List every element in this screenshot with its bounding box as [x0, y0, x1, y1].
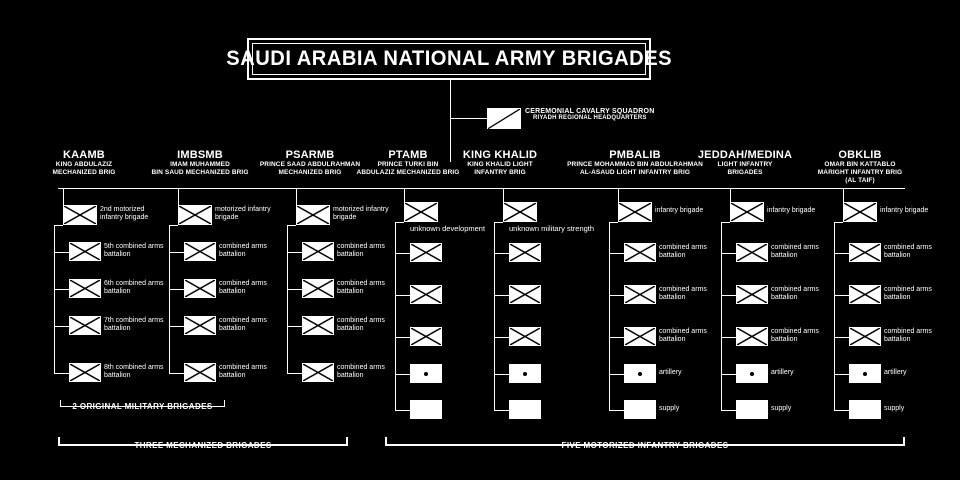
artillery-unit-icon-pmbalib-4 [624, 364, 656, 383]
unit-label-obklib-1: combined arms battalion [884, 244, 948, 260]
supply-unit-icon-king-khalid-5 [509, 400, 541, 419]
infantry-unit-icon-imbsmb-3 [184, 316, 216, 335]
infantry-unit-icon-kaamb-0 [63, 205, 97, 225]
branch-line-jeddah-medina-5 [721, 410, 736, 411]
bracket-label-motorized: FIVE MOTORIZED INFANTRY BRIGADES [385, 441, 905, 450]
infantry-unit-icon-imbsmb-1 [184, 242, 216, 261]
infantry-unit-icon-ptamb-3 [410, 327, 442, 346]
infantry-unit-icon-jeddah-medina-2 [736, 285, 768, 304]
unit-label-pmbalib-2: combined arms battalion [659, 286, 723, 302]
branch-line-kaamb-4 [54, 373, 69, 374]
column-spine-top-psarmb [287, 225, 296, 226]
column-drop-line-imbsmb [178, 188, 179, 205]
unit-label-jeddah-medina-5: supply [771, 405, 791, 413]
unit-label-kaamb-3: 7th combined arms battalion [104, 317, 168, 333]
branch-line-obklib-2 [834, 295, 849, 296]
column-subtitle-obklib: OMAR BIN KATTABLOMARIGHT INFANTRY BRIG(A… [780, 161, 940, 185]
branch-line-obklib-1 [834, 253, 849, 254]
unit-label-imbsmb-0: motorized infantry brigade [215, 206, 279, 222]
artillery-dot [750, 372, 754, 376]
infantry-unit-icon-obklib-3 [849, 327, 881, 346]
artillery-unit-icon-king-khalid-4 [509, 364, 541, 383]
ceremonial-branch-line [450, 118, 488, 119]
infantry-unit-icon-ptamb-0 [404, 202, 438, 222]
unit-label-jeddah-medina-1: combined arms battalion [771, 244, 835, 260]
infantry-unit-icon-king-khalid-2 [509, 285, 541, 304]
unit-label-obklib-4: artillery [884, 369, 907, 377]
unit-label-kaamb-1: 5th combined arms battalion [104, 243, 168, 259]
artillery-dot [523, 372, 527, 376]
infantry-unit-icon-psarmb-3 [302, 316, 334, 335]
column-header-obklib: OBKLIBOMAR BIN KATTABLOMARIGHT INFANTRY … [780, 149, 940, 185]
branch-line-obklib-3 [834, 337, 849, 338]
branch-line-jeddah-medina-4 [721, 374, 736, 375]
supply-unit-icon-obklib-5 [849, 400, 881, 419]
column-drop-line-kaamb [63, 188, 64, 205]
column-spine-top-kaamb [54, 225, 63, 226]
infantry-unit-icon-kaamb-4 [69, 363, 101, 382]
branch-line-jeddah-medina-3 [721, 337, 736, 338]
column-drop-line-psarmb [296, 188, 297, 205]
column-spine-imbsmb [169, 225, 170, 374]
column-drop-line-pmbalib [618, 188, 619, 202]
branch-line-king-khalid-5 [494, 410, 509, 411]
column-spine-top-obklib [834, 222, 843, 223]
artillery-unit-icon-jeddah-medina-4 [736, 364, 768, 383]
infantry-unit-icon-imbsmb-0 [178, 205, 212, 225]
branch-line-imbsmb-4 [169, 373, 184, 374]
infantry-unit-icon-imbsmb-2 [184, 279, 216, 298]
chart-title-box: SAUDI ARABIA NATIONAL ARMY BRIGADES [247, 38, 651, 80]
bracket-label-mechanized: THREE MECHANIZED BRIGADES [58, 441, 348, 450]
branch-line-king-khalid-4 [494, 374, 509, 375]
column-spine-pmbalib [609, 222, 610, 411]
branch-line-imbsmb-2 [169, 289, 184, 290]
infantry-unit-icon-obklib-0 [843, 202, 877, 222]
column-spine-king-khalid [494, 222, 495, 411]
unit-label-pmbalib-3: combined arms battalion [659, 328, 723, 344]
infantry-unit-icon-pmbalib-0 [618, 202, 652, 222]
column-spine-top-ptamb [395, 222, 404, 223]
supply-unit-icon-jeddah-medina-5 [736, 400, 768, 419]
infantry-unit-icon-kaamb-2 [69, 279, 101, 298]
branch-line-jeddah-medina-1 [721, 253, 736, 254]
unit-label-jeddah-medina-0: infantry brigade [767, 207, 815, 215]
infantry-unit-icon-psarmb-1 [302, 242, 334, 261]
unit-label-imbsmb-1: combined arms battalion [219, 243, 283, 259]
column-drop-line-obklib [843, 188, 844, 202]
infantry-unit-icon-psarmb-4 [302, 363, 334, 382]
artillery-unit-icon-obklib-4 [849, 364, 881, 383]
branch-line-kaamb-3 [54, 326, 69, 327]
unit-label-psarmb-3: combined arms battalion [337, 317, 401, 333]
unit-label-kaamb-0: 2nd motorized infantry brigade [100, 206, 164, 222]
branch-line-pmbalib-3 [609, 337, 624, 338]
branch-line-pmbalib-5 [609, 410, 624, 411]
infantry-unit-icon-king-khalid-0 [503, 202, 537, 222]
branch-line-imbsmb-1 [169, 252, 184, 253]
bracket-label-original: 2 ORIGINAL MILITARY BRIGADES [60, 402, 225, 411]
unit-label-psarmb-4: combined arms battalion [337, 364, 401, 380]
org-chart-canvas: SAUDI ARABIA NATIONAL ARMY BRIGADES CERE… [0, 0, 960, 480]
unit-label-kaamb-4: 8th combined arms battalion [104, 364, 168, 380]
unit-label-psarmb-1: combined arms battalion [337, 243, 401, 259]
column-drop-line-ptamb [404, 188, 405, 202]
unit-label-pmbalib-4: artillery [659, 369, 682, 377]
artillery-unit-icon-ptamb-4 [410, 364, 442, 383]
column-spine-top-imbsmb [169, 225, 178, 226]
infantry-unit-icon-jeddah-medina-1 [736, 243, 768, 262]
infantry-unit-icon-pmbalib-3 [624, 327, 656, 346]
infantry-unit-icon-pmbalib-2 [624, 285, 656, 304]
unit-label-jeddah-medina-2: combined arms battalion [771, 286, 835, 302]
branch-line-psarmb-2 [287, 289, 302, 290]
unit-label-imbsmb-4: combined arms battalion [219, 364, 283, 380]
infantry-unit-icon-psarmb-2 [302, 279, 334, 298]
unit-label-obklib-0: infantry brigade [880, 207, 928, 215]
branch-line-psarmb-1 [287, 252, 302, 253]
branch-line-king-khalid-3 [494, 337, 509, 338]
column-note-king-khalid: unknown military strength [509, 225, 594, 233]
column-spine-top-jeddah-medina [721, 222, 730, 223]
header-rail-line [58, 188, 905, 189]
column-spine-psarmb [287, 225, 288, 374]
page-title: SAUDI ARABIA NATIONAL ARMY BRIGADES [226, 47, 672, 71]
artillery-dot [638, 372, 642, 376]
supply-unit-icon-ptamb-5 [410, 400, 442, 419]
supply-unit-icon-pmbalib-5 [624, 400, 656, 419]
branch-line-obklib-4 [834, 374, 849, 375]
infantry-unit-icon-kaamb-1 [69, 242, 101, 261]
branch-line-pmbalib-1 [609, 253, 624, 254]
branch-line-imbsmb-3 [169, 326, 184, 327]
branch-line-king-khalid-2 [494, 295, 509, 296]
branch-line-ptamb-5 [395, 410, 410, 411]
unit-label-obklib-3: combined arms battalion [884, 328, 948, 344]
unit-label-obklib-5: supply [884, 405, 904, 413]
branch-line-pmbalib-2 [609, 295, 624, 296]
unit-label-pmbalib-5: supply [659, 405, 679, 413]
column-spine-top-king-khalid [494, 222, 503, 223]
unit-label-imbsmb-2: combined arms battalion [219, 280, 283, 296]
branch-line-kaamb-2 [54, 289, 69, 290]
branch-line-ptamb-3 [395, 337, 410, 338]
infantry-unit-icon-kaamb-3 [69, 316, 101, 335]
cavalry-squadron-icon [487, 108, 521, 129]
column-drop-line-jeddah-medina [730, 188, 731, 202]
infantry-unit-icon-ptamb-1 [410, 243, 442, 262]
artillery-dot [424, 372, 428, 376]
ceremonial-label: CEREMONIAL CAVALRY SQUADRON RIYADH REGIO… [525, 108, 705, 121]
infantry-unit-icon-king-khalid-1 [509, 243, 541, 262]
unit-label-jeddah-medina-3: combined arms battalion [771, 328, 835, 344]
column-spine-kaamb [54, 225, 55, 374]
artillery-dot [863, 372, 867, 376]
branch-line-psarmb-4 [287, 373, 302, 374]
infantry-unit-icon-pmbalib-1 [624, 243, 656, 262]
branch-line-obklib-5 [834, 410, 849, 411]
unit-label-obklib-2: combined arms battalion [884, 286, 948, 302]
infantry-unit-icon-ptamb-2 [410, 285, 442, 304]
branch-line-king-khalid-1 [494, 253, 509, 254]
unit-label-psarmb-0: motorized infantry brigade [333, 206, 397, 222]
infantry-unit-icon-obklib-2 [849, 285, 881, 304]
ceremonial-line1: CEREMONIAL CAVALRY SQUADRON [525, 108, 705, 115]
unit-label-pmbalib-0: infantry brigade [655, 207, 703, 215]
infantry-unit-icon-obklib-1 [849, 243, 881, 262]
unit-label-imbsmb-3: combined arms battalion [219, 317, 283, 333]
chart-title-inner-border: SAUDI ARABIA NATIONAL ARMY BRIGADES [252, 43, 646, 75]
unit-label-jeddah-medina-4: artillery [771, 369, 794, 377]
branch-line-psarmb-3 [287, 326, 302, 327]
column-spine-top-pmbalib [609, 222, 618, 223]
column-abbr-obklib: OBKLIB [780, 149, 940, 161]
unit-label-kaamb-2: 6th combined arms battalion [104, 280, 168, 296]
branch-line-pmbalib-4 [609, 374, 624, 375]
branch-line-jeddah-medina-2 [721, 295, 736, 296]
column-drop-line-king-khalid [503, 188, 504, 202]
column-note-ptamb: unknown development [410, 225, 485, 233]
unit-label-pmbalib-1: combined arms battalion [659, 244, 723, 260]
infantry-unit-icon-jeddah-medina-0 [730, 202, 764, 222]
infantry-unit-icon-jeddah-medina-3 [736, 327, 768, 346]
ceremonial-line2: RIYADH REGIONAL HEADQUARTERS [533, 115, 705, 121]
unit-label-psarmb-2: combined arms battalion [337, 280, 401, 296]
infantry-unit-icon-psarmb-0 [296, 205, 330, 225]
infantry-unit-icon-imbsmb-4 [184, 363, 216, 382]
infantry-unit-icon-king-khalid-3 [509, 327, 541, 346]
branch-line-kaamb-1 [54, 252, 69, 253]
